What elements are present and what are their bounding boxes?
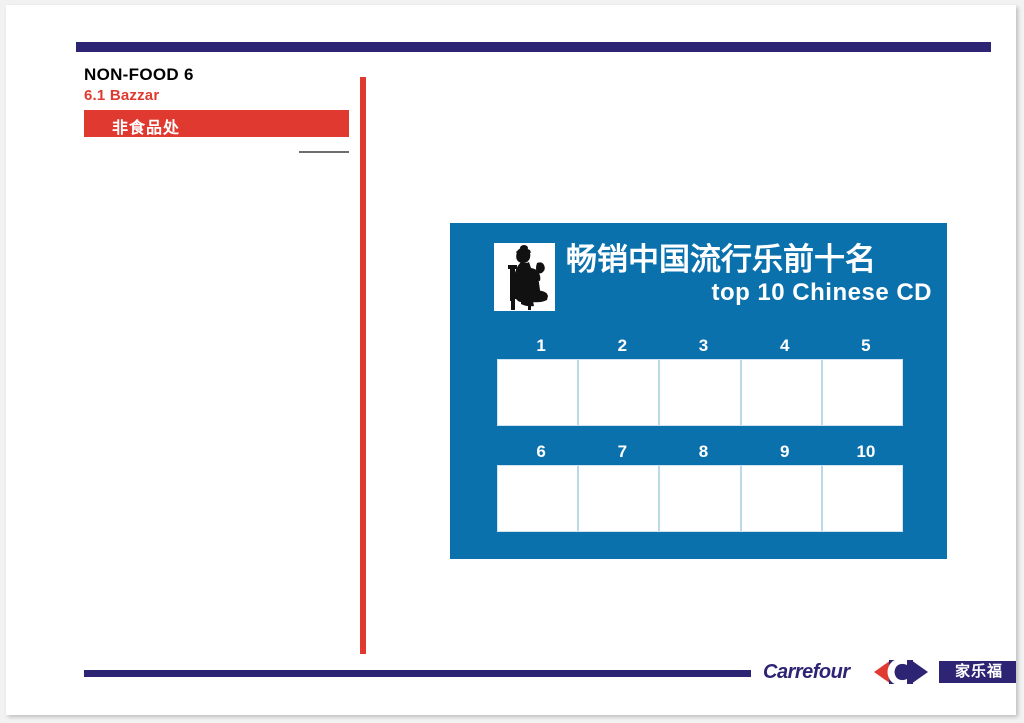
- rank-number: 7: [578, 441, 659, 465]
- department-band: 非食品处: [84, 110, 349, 137]
- carrefour-logo: Carrefour 家乐福: [763, 658, 991, 686]
- rank-slot[interactable]: [660, 466, 741, 531]
- rank-slot[interactable]: [660, 360, 741, 425]
- rank-number: 10: [822, 441, 903, 465]
- rank-block-1-5: 1 2 3 4 5: [497, 335, 903, 426]
- seated-person-silhouette-icon: [494, 243, 555, 311]
- top-ten-panel: 畅销中国流行乐前十名 top 10 Chinese CD 1 2 3 4 5: [450, 223, 947, 559]
- carrefour-chinese-label: 家乐福: [939, 661, 1016, 683]
- rank-slot[interactable]: [823, 360, 902, 425]
- carrefour-chinese-name: 家乐福: [939, 661, 1016, 683]
- carrefour-wordmark: Carrefour: [763, 661, 850, 684]
- page-section-title: 6.1 Bazzar: [84, 87, 159, 104]
- rank-number: 4: [741, 335, 822, 359]
- rank-slot[interactable]: [579, 466, 660, 531]
- poster-page: NON-FOOD 6 6.1 Bazzar 非食品处: [6, 5, 1016, 715]
- page-category-title: NON-FOOD 6: [84, 65, 194, 85]
- rank-number: 8: [659, 441, 740, 465]
- rank-slot-row-2: [497, 465, 903, 532]
- panel-title-group: 畅销中国流行乐前十名 top 10 Chinese CD: [566, 241, 936, 307]
- bottom-rule: [84, 670, 751, 677]
- rank-slot[interactable]: [498, 466, 579, 531]
- rank-slot[interactable]: [498, 360, 579, 425]
- top-rule: [76, 42, 991, 52]
- panel-title-en: top 10 Chinese CD: [566, 279, 936, 307]
- rank-number: 2: [578, 335, 659, 359]
- rank-number: 1: [497, 335, 578, 359]
- rank-number-row-1: 1 2 3 4 5: [497, 335, 903, 359]
- rank-number: 3: [659, 335, 740, 359]
- rank-slot-row-1: [497, 359, 903, 426]
- rank-slot[interactable]: [579, 360, 660, 425]
- rank-slot[interactable]: [742, 466, 823, 531]
- short-gray-rule: [299, 151, 349, 153]
- panel-title-cn: 畅销中国流行乐前十名: [566, 241, 936, 279]
- rank-number: 5: [822, 335, 903, 359]
- rank-number-row-2: 6 7 8 9 10: [497, 441, 903, 465]
- rank-block-6-10: 6 7 8 9 10: [497, 441, 903, 532]
- carrefour-chevron-logo: [874, 659, 928, 685]
- rank-slot[interactable]: [742, 360, 823, 425]
- rank-slot[interactable]: [823, 466, 902, 531]
- rank-number: 6: [497, 441, 578, 465]
- vertical-red-divider: [360, 77, 366, 654]
- rank-number: 9: [741, 441, 822, 465]
- department-label: 非食品处: [112, 114, 180, 138]
- panel-header: 畅销中国流行乐前十名 top 10 Chinese CD: [494, 243, 934, 315]
